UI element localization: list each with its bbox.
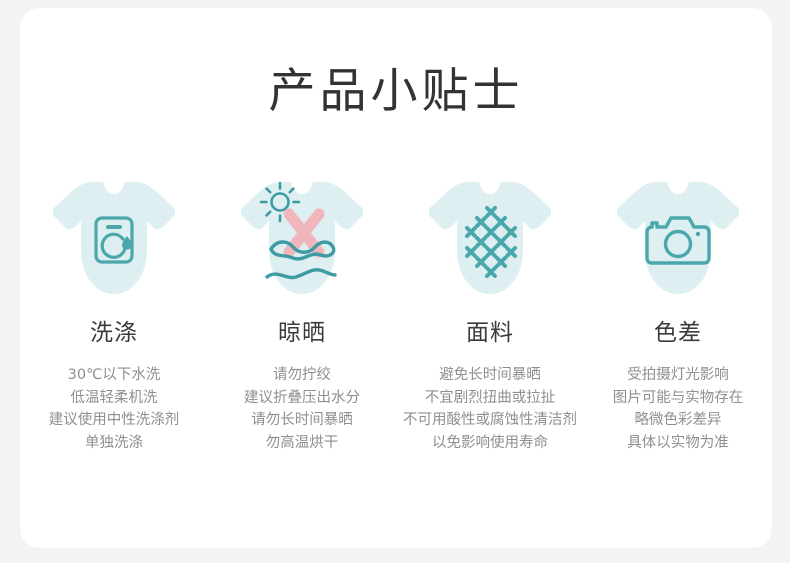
tip-line: 以免影响使用寿命: [403, 432, 577, 455]
tip-line: 勿高温烘干: [244, 432, 360, 455]
tips-card: 产品小贴士 洗涤 30℃以下水洗 低温轻柔机洗 建议使用中性洗涤剂 单独洗涤: [20, 8, 772, 548]
tip-lines: 避免长时间暴晒 不宜剧烈扭曲或拉扯 不可用酸性或腐蚀性清洁剂 以免影响使用寿命: [403, 364, 577, 454]
tip-line: 不可用酸性或腐蚀性清洁剂: [403, 409, 577, 432]
tip-line: 30℃以下水洗: [49, 364, 180, 387]
no-wring-sun-dry-icon: [237, 176, 367, 304]
tip-heading: 洗涤: [90, 318, 138, 348]
tip-line: 单独洗涤: [49, 432, 180, 455]
tip-heading: 色差: [654, 318, 702, 348]
washing-machine-icon: [49, 176, 179, 304]
tip-lines: 请勿拧绞 建议折叠压出水分 请勿长时间暴晒 勿高温烘干: [244, 364, 360, 454]
tip-line: 具体以实物为准: [613, 432, 744, 455]
tip-line: 不宜剧烈扭曲或拉扯: [403, 387, 577, 410]
tip-line: 请勿长时间暴晒: [244, 409, 360, 432]
tip-column-drying: 晾晒 请勿拧绞 建议折叠压出水分 请勿长时间暴晒 勿高温烘干: [208, 176, 396, 454]
fabric-weave-icon: [425, 176, 555, 304]
tip-heading: 晾晒: [278, 318, 326, 348]
tip-column-washing: 洗涤 30℃以下水洗 低温轻柔机洗 建议使用中性洗涤剂 单独洗涤: [20, 176, 208, 454]
tips-row: 洗涤 30℃以下水洗 低温轻柔机洗 建议使用中性洗涤剂 单独洗涤: [20, 176, 772, 454]
tip-line: 避免长时间暴晒: [403, 364, 577, 387]
page-title: 产品小贴士: [20, 64, 772, 120]
tip-line: 低温轻柔机洗: [49, 387, 180, 410]
tip-lines: 受拍摄灯光影响 图片可能与实物存在 略微色彩差异 具体以实物为准: [613, 364, 744, 454]
tip-lines: 30℃以下水洗 低温轻柔机洗 建议使用中性洗涤剂 单独洗涤: [49, 364, 180, 454]
tip-line: 受拍摄灯光影响: [613, 364, 744, 387]
tip-line: 建议使用中性洗涤剂: [49, 409, 180, 432]
tip-line: 请勿拧绞: [244, 364, 360, 387]
tip-line: 图片可能与实物存在: [613, 387, 744, 410]
tip-line: 建议折叠压出水分: [244, 387, 360, 410]
tip-heading: 面料: [466, 318, 514, 348]
tip-line: 略微色彩差异: [613, 409, 744, 432]
tip-column-fabric: 面料 避免长时间暴晒 不宜剧烈扭曲或拉扯 不可用酸性或腐蚀性清洁剂 以免影响使用…: [396, 176, 584, 454]
camera-icon: [613, 176, 743, 304]
tip-column-color: 色差 受拍摄灯光影响 图片可能与实物存在 略微色彩差异 具体以实物为准: [584, 176, 772, 454]
